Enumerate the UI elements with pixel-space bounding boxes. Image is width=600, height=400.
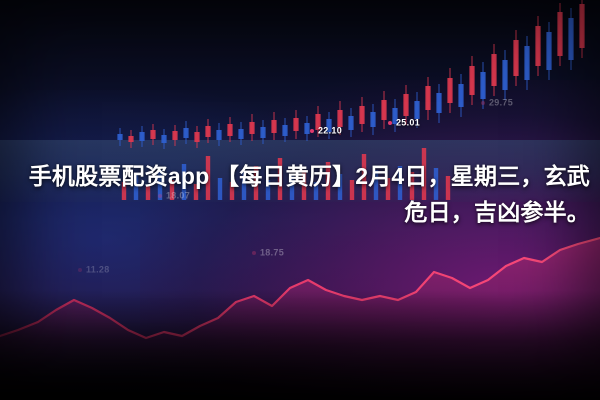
- candle-body: [491, 54, 496, 86]
- candle-body: [227, 124, 232, 136]
- price-label: 29.75: [481, 97, 513, 108]
- candle-body: [436, 93, 441, 113]
- candle-body: [513, 40, 518, 76]
- price-label: 11.28: [78, 264, 110, 275]
- candle-body: [546, 32, 551, 70]
- candle-body: [150, 130, 155, 139]
- price-label-value: 18.75: [260, 248, 284, 258]
- candle-body: [524, 46, 529, 80]
- candle-body: [216, 130, 221, 140]
- promo-banner: 11.2818.0722.1018.7525.0129.75 手机股票配资app…: [0, 0, 600, 400]
- price-label: 25.01: [388, 117, 420, 128]
- candle-body: [557, 12, 562, 56]
- candle-body: [293, 118, 298, 131]
- candle-body: [260, 127, 265, 138]
- price-marker-icon: [78, 268, 82, 272]
- price-label-value: 29.75: [489, 98, 513, 108]
- candle-body: [128, 136, 133, 142]
- candle-body: [579, 4, 584, 48]
- candle-body: [238, 129, 243, 139]
- candle-body: [249, 122, 254, 134]
- price-marker-icon: [252, 251, 256, 255]
- price-label-value: 25.01: [396, 118, 420, 128]
- candle-body: [304, 123, 309, 134]
- price-marker-icon: [481, 101, 485, 105]
- candle-body: [117, 134, 122, 140]
- price-label-value: 22.10: [318, 126, 342, 136]
- candle-body: [194, 132, 199, 142]
- candle-body: [447, 78, 452, 103]
- candle-body: [480, 72, 485, 99]
- headline-text: 手机股票配资app 【每日黄历】2月4日，星期三，玄武危日，吉凶参半。: [0, 158, 600, 230]
- candle-body: [161, 135, 166, 143]
- price-marker-icon: [388, 121, 392, 125]
- candle-body: [370, 112, 375, 127]
- candle-body: [139, 132, 144, 141]
- price-marker-icon: [310, 129, 314, 133]
- candle-body: [205, 126, 210, 137]
- candle-body: [469, 66, 474, 95]
- candle-body: [535, 26, 540, 66]
- candle-body: [458, 84, 463, 107]
- candle-body: [568, 18, 573, 60]
- price-label: 18.75: [252, 247, 284, 258]
- candle-body: [282, 125, 287, 136]
- bottom-fade-overlay: [0, 290, 600, 400]
- candle-body: [425, 86, 430, 110]
- candle-body: [381, 100, 386, 120]
- price-label: 22.10: [310, 125, 342, 136]
- candle-body: [403, 94, 408, 116]
- candle-body: [172, 131, 177, 140]
- candle-body: [359, 106, 364, 124]
- candle-body: [271, 120, 276, 133]
- price-label-value: 11.28: [86, 265, 110, 275]
- candlesticks-group: [117, 0, 584, 149]
- candle-body: [183, 128, 188, 138]
- candle-body: [348, 116, 353, 130]
- candle-body: [502, 60, 507, 90]
